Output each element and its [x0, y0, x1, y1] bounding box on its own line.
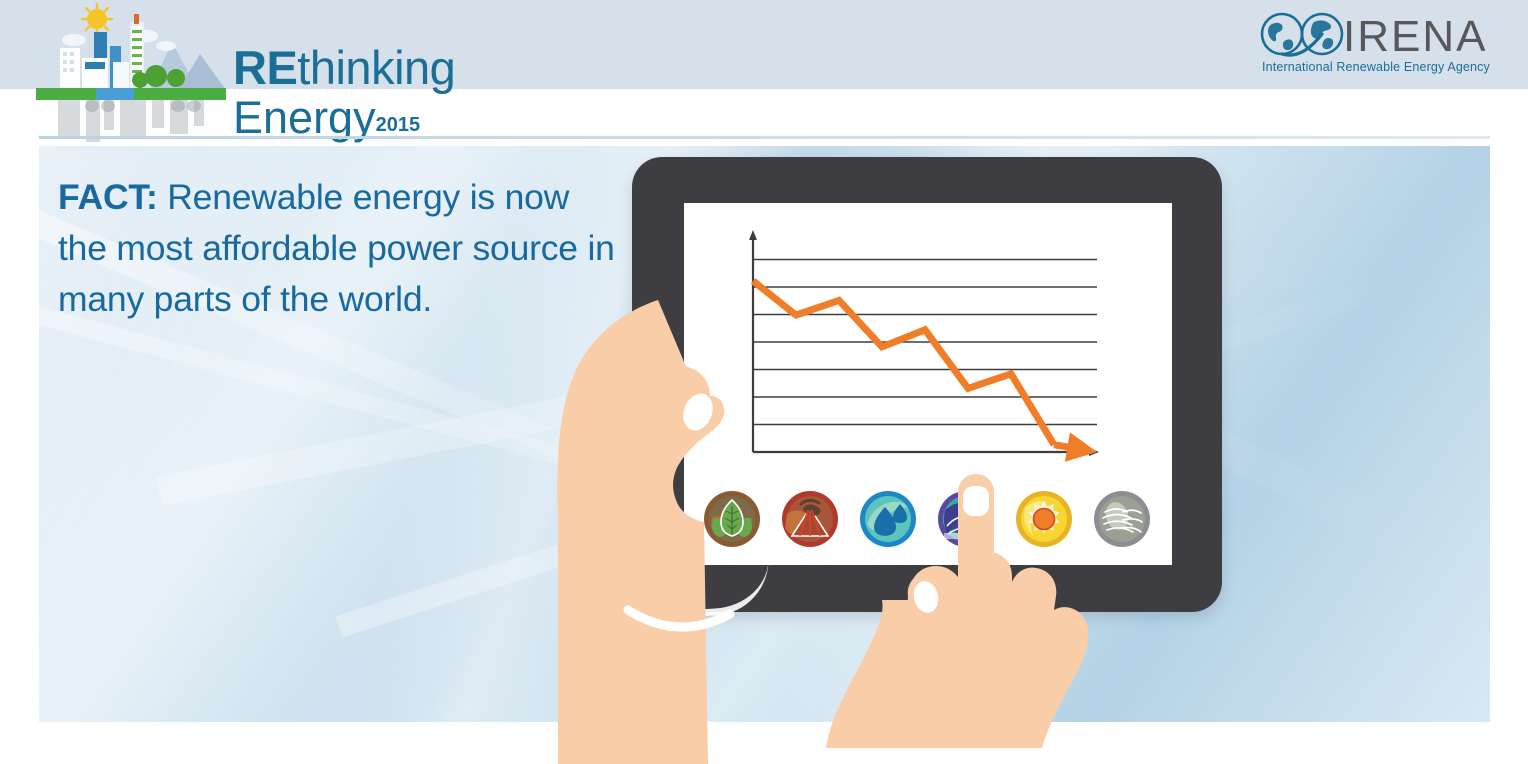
brand-year: 2015	[376, 114, 421, 136]
irena-tagline: International Renewable Energy Agency	[1262, 60, 1490, 74]
series-arrow-head	[1065, 432, 1097, 462]
brand-thinking: thinking	[297, 41, 455, 94]
energy-source-icon-row	[703, 490, 1153, 550]
bioenergy-icon[interactable]	[703, 490, 761, 548]
geothermal-icon[interactable]	[781, 490, 839, 548]
hydropower-icon[interactable]	[859, 490, 917, 548]
brand-re: RE	[233, 41, 297, 94]
cost-decline-chart	[745, 228, 1105, 463]
brand-wordmark: REthinking Energy2015	[233, 44, 493, 144]
irena-wordmark: IRENA	[1343, 12, 1487, 62]
header-divider-rule	[39, 136, 1490, 139]
marine-icon[interactable]	[937, 490, 995, 548]
infographic-canvas: REthinking Energy2015 IRENA Internationa…	[0, 0, 1528, 764]
y-axis-arrow	[749, 230, 757, 240]
fact-label: FACT:	[58, 177, 158, 217]
series-line	[753, 281, 1054, 445]
green-city-skyline-icon	[30, 2, 230, 142]
fact-statement: FACT: Renewable energy is now the most a…	[58, 172, 618, 325]
solar-icon[interactable]	[1015, 490, 1073, 548]
wind-icon[interactable]	[1093, 490, 1151, 548]
